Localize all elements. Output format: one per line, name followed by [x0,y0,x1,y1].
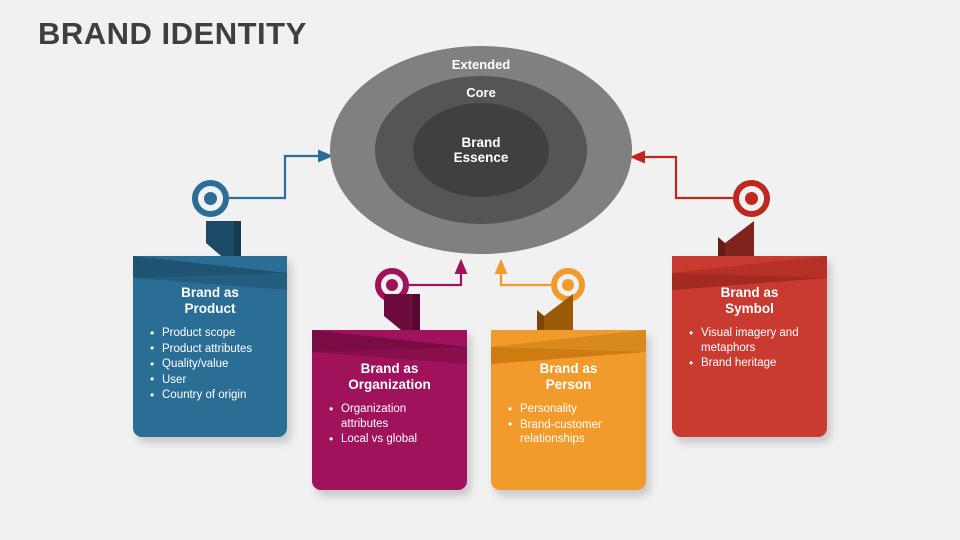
ring-brand-essence-label: Brand Essence [454,135,509,165]
list-item: Product scope [147,326,273,341]
ring-brand-essence: Brand Essence [413,103,549,197]
ring-brand-essence-label-line1: Brand [461,135,500,150]
card-title-organization: Brand as Organization [326,361,453,393]
card-title-organization-line2: Organization [348,377,431,392]
card-brand-as-product[interactable]: Brand as Product Product scope Product a… [133,256,287,437]
target-icon-symbol[interactable] [733,180,770,217]
target-icon-symbol-center [745,192,758,205]
card-title-person: Brand as Person [505,361,632,393]
product-connector [229,156,331,198]
person-connector [501,261,551,285]
symbol-connector [632,157,733,198]
list-item: Brand-customer relationships [505,418,632,447]
card-bullets-product: Product scope Product attributes Quality… [147,326,273,403]
list-item: Brand heritage [686,356,813,371]
card-title-organization-line1: Brand as [361,361,419,376]
card-brand-as-organization[interactable]: Brand as Organization Organization attri… [312,330,467,490]
card-title-person-line2: Person [546,377,592,392]
card-content-product: Brand as Product Product scope Product a… [133,256,287,403]
ring-brand-essence-label-line2: Essence [454,150,509,165]
card-content-person: Brand as Person Personality Brand-custom… [491,330,646,447]
list-item: Product attributes [147,342,273,357]
list-item: Visual imagery and metaphors [686,326,813,355]
card-title-product: Brand as Product [147,285,273,317]
target-icon-product[interactable] [192,180,229,217]
card-title-person-line1: Brand as [540,361,598,376]
card-bullets-organization: Organization attributes Local vs global [326,402,453,447]
brand-identity-ellipse-group: Extended Core Brand Essence [330,46,632,254]
list-item: Country of origin [147,388,273,403]
target-icon-person-center [562,279,574,291]
organization-connector [409,261,461,285]
target-icon-product-center [204,192,217,205]
list-item: Quality/value [147,357,273,372]
card-title-symbol-line2: Symbol [725,301,774,316]
card-title-product-line1: Brand as [181,285,239,300]
list-item: Organization attributes [326,402,453,431]
card-content-symbol: Brand as Symbol Visual imagery and metap… [672,256,827,371]
card-title-product-line2: Product [184,301,235,316]
card-bullets-symbol: Visual imagery and metaphors Brand herit… [686,326,813,371]
list-item: User [147,373,273,388]
target-icon-organization-center [386,279,398,291]
card-bullets-person: Personality Brand-customer relationships [505,402,632,447]
card-title-symbol: Brand as Symbol [686,285,813,317]
card-brand-as-person[interactable]: Brand as Person Personality Brand-custom… [491,330,646,490]
card-title-symbol-line1: Brand as [721,285,779,300]
list-item: Local vs global [326,432,453,447]
card-content-organization: Brand as Organization Organization attri… [312,330,467,447]
list-item: Personality [505,402,632,417]
slide-canvas: BRAND IDENTITY Extended Core [0,0,960,540]
card-brand-as-symbol[interactable]: Brand as Symbol Visual imagery and metap… [672,256,827,437]
